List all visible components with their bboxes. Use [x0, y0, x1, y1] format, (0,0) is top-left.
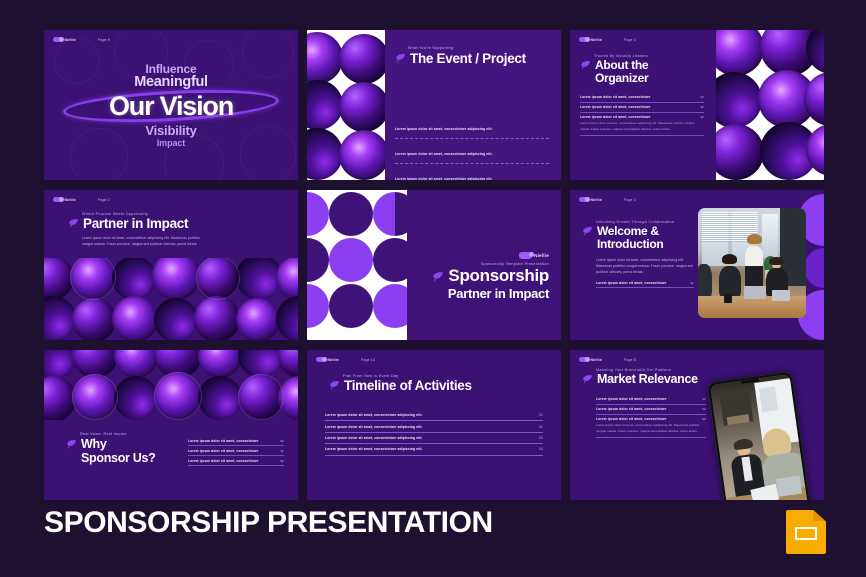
leaf-logo-icon [316, 357, 325, 362]
gs-fold-shape [813, 510, 826, 521]
gs-slide-shape [795, 527, 817, 540]
accordion-item[interactable]: Lorem ipsum dolor sit amet, consectetuer [188, 436, 284, 446]
cover-title: Sponsorship [448, 267, 549, 285]
accordion-body: Lorem ipsum dolor sit amet, consectetuer… [580, 121, 704, 132]
slide-our-vision[interactable]: Niellie Page 9 Influence Meaningful O [44, 30, 298, 180]
accordion: Lorem ipsum dolor sit amet, consectetuer [596, 278, 694, 288]
slide-title-row: Welcome &Introduction [582, 225, 694, 251]
brand-name: Niellie [591, 358, 602, 362]
brand-name: Niellie [591, 198, 602, 202]
brand-logo: Niellie [316, 357, 339, 362]
slide-title: Partner in Impact [83, 217, 188, 232]
slide-market-relevance[interactable]: Niellie Page 8 Matching Your Brand with … [570, 350, 824, 500]
brand-name: Niellie [591, 38, 602, 42]
slide-title-row: Partner in Impact [68, 217, 278, 232]
slide-welcome-introduction[interactable]: Niellie Page 3 [570, 190, 824, 340]
cover-content: Niellie Sponsorship Template Presentatio… [432, 252, 549, 301]
slide-header: Niellie Page 9 [53, 37, 289, 42]
slide-title: The Event / Project [410, 52, 526, 67]
slide-header: Niellie Page 3 [579, 197, 815, 202]
page-number: Page 4 [624, 38, 636, 42]
leaf-icon [68, 218, 79, 229]
google-slides-icon [786, 510, 826, 554]
event-list: Lorem ipsum dolor sit amet, consectetuer… [395, 114, 549, 180]
brand-name: Niellie [534, 253, 549, 258]
accordion-item[interactable]: Lorem ipsum dolor sit amet, consectetuer… [596, 415, 706, 438]
leaf-icon [580, 60, 591, 71]
brand-name: Niellie [65, 38, 76, 42]
cover-subtitle: Partner in Impact [432, 287, 549, 301]
chevron-down-icon[interactable] [280, 449, 284, 453]
accordion-label: Lorem ipsum dolor sit amet, consectetuer [580, 115, 650, 119]
accordion-item[interactable]: Lorem ipsum dolor sit amet, consectetuer [580, 93, 704, 103]
page-number: Page 8 [624, 358, 636, 362]
leaf-icon [395, 53, 406, 64]
accordion: Lorem ipsum dolor sit amet, consectetuer… [188, 436, 284, 466]
accordion-item[interactable]: Lorem ipsum dolor sit amet, consectetuer [596, 395, 706, 405]
slide-title: Timeline of Activities [344, 379, 472, 394]
brand-logo: Niellie [53, 37, 76, 42]
decorative-circle-band [44, 258, 298, 340]
list-item-label: Lorem ipsum dolor sit amet, consectetuer… [395, 127, 493, 131]
slide-title-row: Market Relevance [582, 373, 706, 387]
list-item[interactable]: Lorem ipsum dolor sit amet, consectetuer… [395, 114, 549, 139]
leaf-logo-icon [519, 252, 532, 259]
decorative-circle-column [307, 30, 385, 180]
page-number: Page 3 [624, 198, 636, 202]
leaf-icon [66, 439, 77, 450]
accordion: Lorem ipsum dolor sit amet, consectetuer… [596, 395, 706, 438]
slide-partner-in-impact[interactable]: Niellie Page 2 Where Purpose Meets Oppor… [44, 190, 298, 340]
meeting-photo [698, 208, 806, 318]
list-item-label: Lorem ipsum dolor sit amet, consectetuer… [395, 152, 493, 156]
accordion-item[interactable]: Lorem ipsum dolor sit amet, consectetuer… [580, 113, 704, 136]
slide-content: Where Purpose Meets Opportunity Partner … [68, 212, 278, 247]
accordion-label: Lorem ipsum dolor sit amet, consectetuer [596, 417, 666, 421]
preview-canvas: Niellie Page 9 Influence Meaningful O [0, 0, 866, 577]
chevron-down-icon[interactable] [690, 281, 694, 285]
vision-line-4: Visibility [145, 123, 196, 138]
timeline-text: Lorem ipsum dolor sit amet, consectetuer… [325, 413, 423, 417]
timeline-number: 02 [539, 425, 543, 429]
accordion-label: Lorem ipsum dolor sit amet, consectetuer [596, 407, 666, 411]
slide-content: Plan From Now to Event Day Timeline of A… [329, 374, 541, 394]
phone-mockup [707, 371, 812, 500]
accordion-item[interactable]: Lorem ipsum dolor sit amet, consectetuer [596, 405, 706, 415]
slide-title-row: Timeline of Activities [329, 379, 541, 394]
slide-content: What You're Supporting The Event / Proje… [395, 46, 549, 67]
timeline-number: 03 [539, 436, 543, 440]
slide-header: Niellie Page 8 [579, 357, 815, 362]
chevron-down-icon[interactable] [702, 417, 706, 421]
leaf-logo-icon [53, 37, 62, 42]
timeline-number: 01 [539, 413, 543, 417]
slide-content: Trusted by Industry Leaders About theOrg… [580, 54, 704, 136]
brand-logo: Niellie [432, 252, 549, 259]
leaf-logo-icon [53, 197, 62, 202]
leaf-logo-icon [579, 37, 588, 42]
accordion-item[interactable]: Lorem ipsum dolor sit amet, consectetuer [596, 278, 694, 288]
slide-eyebrow: Real Value. Real Impact. [80, 432, 176, 436]
accordion-label: Lorem ipsum dolor sit amet, consectetuer [596, 281, 666, 285]
list-item[interactable]: Lorem ipsum dolor sit amet, consectetuer… [395, 139, 549, 164]
leaf-icon [582, 226, 593, 237]
accordion-label: Lorem ipsum dolor sit amet, consectetuer [596, 397, 666, 401]
slide-body: Lorem ipsum dolor sit amet, consectetuer… [82, 235, 200, 247]
decorative-circle-band [44, 350, 298, 420]
accordion-item[interactable]: Lorem ipsum dolor sit amet, consectetuer [580, 103, 704, 113]
slide-title-row: WhySponsor Us? [66, 438, 176, 465]
slide-grid: Niellie Page 9 Influence Meaningful O [44, 30, 824, 500]
slide-title: WhySponsor Us? [81, 438, 155, 465]
slide-header: Niellie Page 14 [316, 357, 552, 362]
timeline-text: Lorem ipsum dolor sit amet, consectetuer… [325, 447, 423, 451]
list-item[interactable]: Lorem ipsum dolor sit amet, consectetuer… [395, 164, 549, 180]
accordion-label: Lorem ipsum dolor sit amet, consectetuer [188, 459, 258, 463]
slide-timeline-of-activities[interactable]: Niellie Page 14 Plan From Now to Event D… [307, 350, 561, 500]
vision-line-2: Meaningful [134, 74, 208, 90]
slide-title: About theOrganizer [595, 59, 648, 85]
slide-content: Matching Your Brand with Our Platform Ma… [582, 368, 706, 438]
brand-logo: Niellie [579, 357, 602, 362]
accordion-label: Lorem ipsum dolor sit amet, consectetuer [188, 439, 258, 443]
phone-screen [710, 374, 809, 500]
timeline-text: Lorem ipsum dolor sit amet, consectetuer… [325, 425, 423, 429]
slide-title: Welcome &Introduction [597, 225, 663, 251]
chevron-down-icon[interactable] [700, 115, 704, 119]
chevron-down-icon[interactable] [702, 407, 706, 411]
accordion-label: Lorem ipsum dolor sit amet, consectetuer [188, 449, 258, 453]
slide-about-the-organizer[interactable]: Niellie Page 4 Trusted by Industry Leade… [570, 30, 824, 180]
accordion-label: Lorem ipsum dolor sit amet, consectetuer [580, 95, 650, 99]
slide-header: Niellie Page 4 [579, 37, 815, 42]
timeline-text: Lorem ipsum dolor sit amet, consectetuer… [325, 436, 423, 440]
vision-headline-wrap: Our Vision [109, 91, 233, 121]
vision-line-5: Impact [157, 138, 185, 148]
leaf-logo-icon [579, 197, 588, 202]
vision-stack: Influence Meaningful Our Vision Visibili… [44, 30, 298, 180]
page-title: SPONSORSHIP PRESENTATION [44, 508, 493, 538]
slide-title-row: About theOrganizer [580, 59, 704, 85]
accordion-label: Lorem ipsum dolor sit amet, consectetuer [580, 105, 650, 109]
decorative-circle-block [716, 30, 824, 180]
brand-name: Niellie [65, 198, 76, 202]
page-number: Page 2 [98, 198, 110, 202]
slide-sponsorship-cover[interactable]: Niellie Sponsorship Template Presentatio… [307, 190, 561, 340]
slide-content: Unlocking Growth Through Collaboration W… [582, 220, 694, 288]
chevron-down-icon[interactable] [702, 397, 706, 401]
brand-logo: Niellie [579, 37, 602, 42]
accordion-item[interactable]: Lorem ipsum dolor sit amet, consectetuer [188, 446, 284, 456]
table-row[interactable]: Lorem ipsum dolor sit amet, consectetuer… [325, 433, 543, 444]
table-row[interactable]: Lorem ipsum dolor sit amet, consectetuer… [325, 444, 543, 455]
leaf-logo-icon [579, 357, 588, 362]
accordion-body: Lorem ipsum dolor sit amet, consectetuer… [596, 423, 706, 434]
cover-title-row: Sponsorship [432, 267, 549, 285]
leaf-icon [329, 380, 340, 391]
decorative-geometry [307, 190, 407, 340]
vision-headline: Our Vision [109, 93, 233, 120]
chevron-down-icon[interactable] [700, 95, 704, 99]
chevron-down-icon[interactable] [700, 105, 704, 109]
table-row[interactable]: Lorem ipsum dolor sit amet, consectetuer… [325, 421, 543, 432]
slide-why-sponsor-us[interactable]: Real Value. Real Impact. WhySponsor Us? … [44, 350, 298, 500]
slide-header: Niellie Page 2 [53, 197, 289, 202]
timeline-number: 04 [539, 447, 543, 451]
accordion: Lorem ipsum dolor sit amet, consectetuer… [580, 93, 704, 136]
slide-title: Market Relevance [597, 373, 698, 387]
accordion-item[interactable]: Lorem ipsum dolor sit amet, consectetuer [188, 456, 284, 466]
slide-eyebrow: What You're Supporting [408, 46, 549, 50]
page-number: Page 14 [361, 358, 375, 362]
leaf-icon [432, 271, 444, 283]
slide-the-event-project[interactable]: What You're Supporting The Event / Proje… [307, 30, 561, 180]
chevron-down-icon[interactable] [280, 439, 284, 443]
timeline-list: Lorem ipsum dolor sit amet, consectetuer… [325, 410, 543, 456]
chevron-down-icon[interactable] [280, 459, 284, 463]
slide-title-row: The Event / Project [395, 52, 549, 67]
list-item-label: Lorem ipsum dolor sit amet, consectetuer… [395, 177, 493, 180]
brand-name: Niellie [328, 358, 339, 362]
brand-logo: Niellie [53, 197, 76, 202]
table-row[interactable]: Lorem ipsum dolor sit amet, consectetuer… [325, 410, 543, 421]
page-number: Page 9 [98, 38, 110, 42]
slide-body: Lorem ipsum dolor sit amet, consectetuer… [596, 257, 694, 275]
leaf-icon [582, 374, 593, 385]
brand-logo: Niellie [579, 197, 602, 202]
slide-content: Real Value. Real Impact. WhySponsor Us? [66, 432, 176, 465]
